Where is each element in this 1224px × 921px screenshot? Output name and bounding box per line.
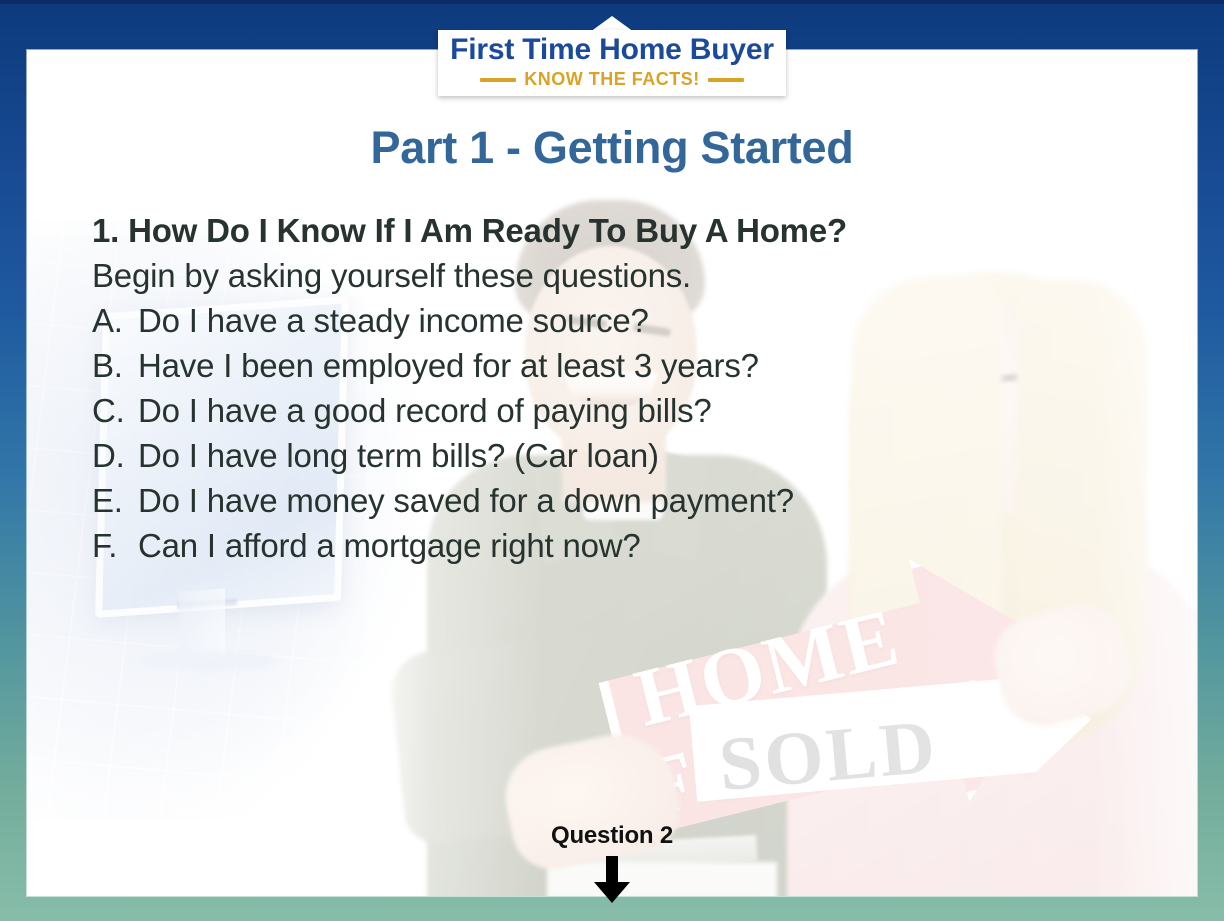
list-item-label: Can I afford a mortgage right now? bbox=[138, 527, 641, 565]
page-title: Part 1 - Getting Started bbox=[0, 122, 1224, 174]
question-intro: Begin by asking yourself these questions… bbox=[92, 257, 1052, 295]
list-item-letter: B. bbox=[92, 347, 138, 385]
list-item: B. Have I been employed for at least 3 y… bbox=[92, 347, 1052, 385]
logo-dash-right-icon bbox=[708, 78, 744, 82]
brand-logo: First Time Home Buyer KNOW THE FACTS! bbox=[438, 16, 786, 96]
list-item-letter: E. bbox=[92, 482, 138, 520]
question-content: 1. How Do I Know If I Am Ready To Buy A … bbox=[92, 212, 1052, 572]
next-question-nav[interactable]: Question 2 bbox=[0, 822, 1224, 909]
list-item-letter: A. bbox=[92, 302, 138, 340]
list-item-label: Do I have a good record of paying bills? bbox=[138, 392, 712, 430]
list-item-letter: F. bbox=[92, 527, 138, 565]
sign-word-sold: SOLD bbox=[716, 703, 942, 809]
list-item: F. Can I afford a mortgage right now? bbox=[92, 527, 1052, 565]
logo-tagline-row: KNOW THE FACTS! bbox=[438, 69, 786, 90]
list-item-label: Have I been employed for at least 3 year… bbox=[138, 347, 759, 385]
monitor-base-graphic bbox=[137, 650, 277, 672]
list-item-label: Do I have money saved for a down payment… bbox=[138, 482, 794, 520]
logo-dash-left-icon bbox=[480, 78, 516, 82]
logo-tagline-text: KNOW THE FACTS! bbox=[524, 69, 700, 90]
list-item: E. Do I have money saved for a down paym… bbox=[92, 482, 1052, 520]
next-question-label: Question 2 bbox=[0, 822, 1224, 850]
frame-top-rule bbox=[0, 0, 1224, 4]
list-item: C. Do I have a good record of paying bil… bbox=[92, 392, 1052, 430]
list-item-letter: C. bbox=[92, 392, 138, 430]
list-item: A. Do I have a steady income source? bbox=[92, 302, 1052, 340]
list-item-label: Do I have long term bills? (Car loan) bbox=[138, 437, 659, 475]
slide-frame: HOME FOR SALE SOLD First Time Home Buyer… bbox=[0, 0, 1224, 921]
question-heading: 1. How Do I Know If I Am Ready To Buy A … bbox=[92, 212, 1052, 250]
arrow-down-icon[interactable] bbox=[592, 856, 632, 904]
logo-primary-text: First Time Home Buyer bbox=[438, 33, 786, 67]
list-item-letter: D. bbox=[92, 437, 138, 475]
list-item: D. Do I have long term bills? (Car loan) bbox=[92, 437, 1052, 475]
list-item-label: Do I have a steady income source? bbox=[138, 302, 649, 340]
